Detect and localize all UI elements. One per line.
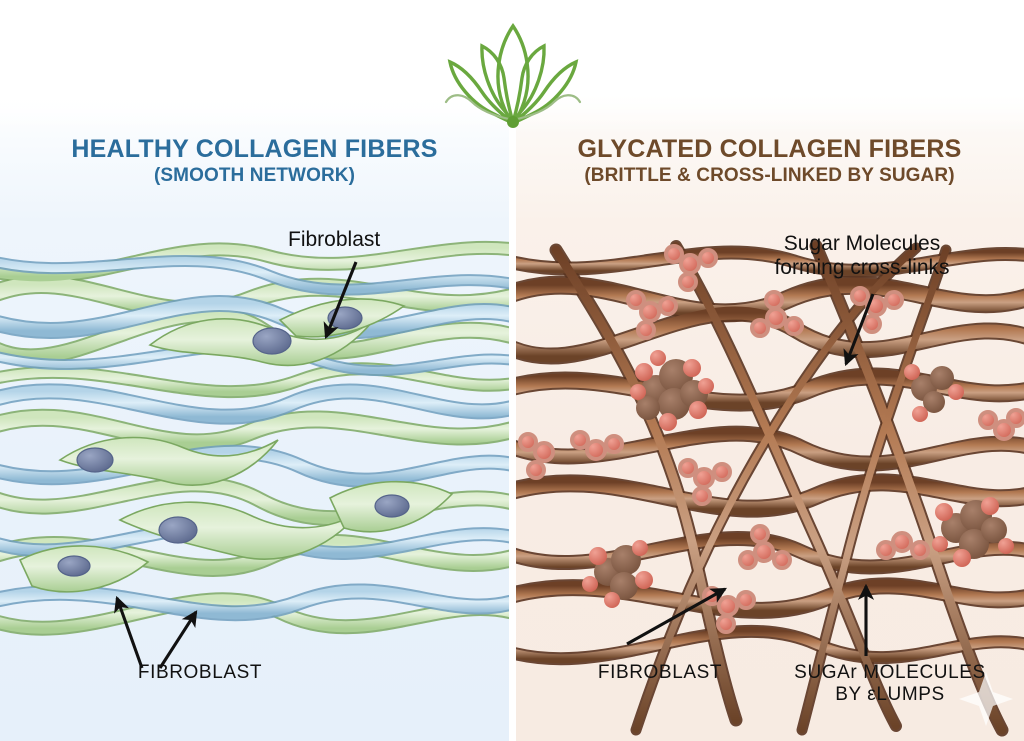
glycated-collagen-panel (516, 0, 1024, 741)
annotation-sugar-clumps-line1: SUGAr MOLECULES (770, 662, 1010, 684)
annotation-sugar-line2: forming cross-links (742, 256, 982, 280)
annotation-fibroblast-bottom: FIBROBLAST (80, 662, 320, 684)
right-panel-heading: GLYCATED COLLAGEN FIBERS (BRITTLE & CROS… (515, 136, 1024, 186)
lotus-center-dot (507, 116, 519, 128)
annotation-sugar-line1: Sugar Molecules (742, 232, 982, 256)
annotation-sugar-clumps-line2: BY εLUMPS (770, 684, 1010, 706)
healthy-fiber-network-illustration (0, 0, 509, 741)
right-panel-subtitle: (BRITTLE & CROSS-LINKED BY SUGAR) (515, 165, 1024, 186)
illustration-canvas: HEALTHY COLLAGEN FIBERS (SMOOTH NETWORK)… (0, 0, 1024, 741)
fibroblast-cell (330, 482, 452, 532)
lotus-flower-icon (438, 16, 588, 130)
annotation-fibroblast-right: FIBROBLAST (560, 662, 760, 684)
sugar-molecule (878, 533, 928, 558)
left-panel-subtitle: (SMOOTH NETWORK) (0, 165, 509, 186)
annotation-fibroblast-top: Fibroblast (288, 228, 380, 252)
annotation-sugar-crosslinks: Sugar Molecules forming cross-links (742, 232, 982, 281)
right-panel-title: GLYCATED COLLAGEN FIBERS (515, 136, 1024, 163)
sugar-molecule (980, 410, 1024, 439)
sugar-clump (904, 364, 964, 422)
left-panel-title: HEALTHY COLLAGEN FIBERS (0, 136, 509, 163)
sugar-clump (630, 350, 714, 431)
glycated-fiber-network-illustration (516, 0, 1024, 741)
annotation-sugar-clumps: SUGAr MOLECULES BY εLUMPS (770, 662, 1010, 706)
left-panel-heading: HEALTHY COLLAGEN FIBERS (SMOOTH NETWORK) (0, 136, 509, 186)
healthy-collagen-panel (0, 0, 509, 741)
